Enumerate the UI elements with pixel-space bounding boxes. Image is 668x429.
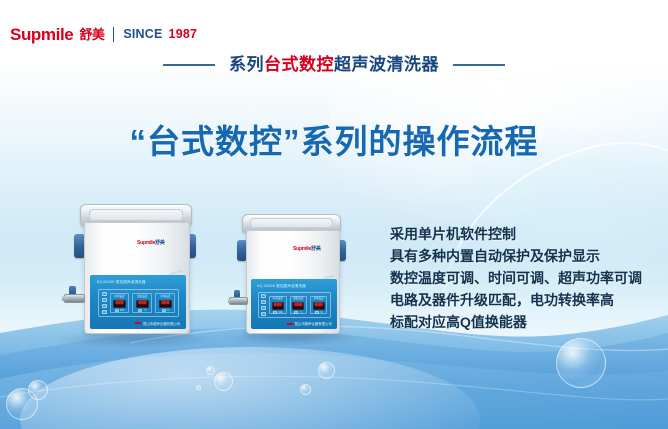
- bubble-center-small: [300, 384, 311, 395]
- page-title: “台式数控”系列的操作流程: [0, 122, 668, 162]
- machine-right-module-time-caption: 时间设定: [273, 296, 283, 300]
- machine-right-brand-en: Supmile: [293, 246, 311, 252]
- machine-right-module-power[interactable]: 功率设定 000 %: [310, 296, 327, 315]
- feature-item: 具有多种内置自动保护及保护显示: [390, 247, 642, 265]
- machine-right-panel-footer-mark: [287, 323, 293, 325]
- logo-since-year: 1987: [169, 28, 198, 41]
- machine-right-module-temp-unit: °C: [300, 311, 303, 314]
- machine-right-led-temp-value: 000: [294, 303, 302, 308]
- machine-right-body: Supmile舒美 KQ-300DE 数控超声波清洗器 时间: [246, 230, 340, 334]
- machine-left-brand-cn: 舒美: [155, 240, 165, 246]
- bubble-large-right: [556, 338, 606, 388]
- machine-left-module-temp-unit: °C: [144, 309, 147, 312]
- machine-left-module-temp-controls[interactable]: °C: [138, 309, 146, 312]
- machine-right-panel-group: 时间设定 000 MIN 温度设定 000 °C 功率设定 000 %: [258, 292, 331, 318]
- machine-left-module-power[interactable]: 功率设定 000 %: [155, 293, 175, 313]
- machine-left-led-time: 000: [113, 300, 125, 308]
- machine-left-led-temp: 000: [136, 300, 148, 308]
- machine-left-time-btn-icon[interactable]: [115, 309, 119, 312]
- machine-right-led-power: 000: [313, 302, 325, 310]
- machine-left-panel-group: 时间设定 000 MIN 温度设定 000 °C 功率设定 000 %: [98, 289, 180, 317]
- bubble-left-small: [28, 380, 48, 400]
- bubble-mid-a: [214, 372, 233, 391]
- feature-list: 采用单片机软件控制 具有多种内置自动保护及保护显示 数控温度可调、时间可调、超声…: [390, 225, 642, 331]
- machine-left-key-3[interactable]: [102, 304, 107, 308]
- machine-left-module-temp-caption: 温度设定: [137, 294, 147, 298]
- machine-right-module-temp-controls[interactable]: °C: [294, 311, 302, 314]
- machine-left-module-temp[interactable]: 温度设定 000 °C: [132, 293, 152, 313]
- header-title-highlight: 台式数控: [264, 55, 334, 74]
- machine-right-lid-inset: [250, 218, 333, 228]
- machine-left-panel-footer: 昆山市超声仪器有限公司: [135, 321, 180, 326]
- machine-right-panel-footer: 昆山市超声仪器有限公司: [287, 321, 332, 326]
- machine-right-keypad[interactable]: [261, 294, 266, 316]
- machine-left-module-power-controls[interactable]: %: [162, 309, 170, 312]
- machine-right-valve-spout: [228, 299, 233, 303]
- machine-right-key-2[interactable]: [261, 300, 266, 304]
- machine-right-module-power-unit: %: [320, 311, 322, 314]
- machine-left-lid-inset: [89, 209, 184, 221]
- feature-item: 数控温度可调、时间可调、超声功率可调: [390, 269, 642, 287]
- machine-left-module-time-caption: 时间设定: [114, 294, 124, 298]
- logo-divider: [113, 27, 114, 42]
- machine-right-led-time-value: 000: [274, 303, 282, 308]
- machine-right-key-4[interactable]: [261, 312, 266, 316]
- machine-left-keypad[interactable]: [102, 292, 107, 314]
- machine-left-led-temp-value: 000: [138, 301, 146, 306]
- machine-right-module-temp[interactable]: 温度设定 000 °C: [290, 296, 307, 315]
- feature-item: 采用单片机软件控制: [390, 225, 642, 243]
- machine-right-temp-btn-icon[interactable]: [294, 311, 298, 314]
- machine-right-led-time: 000: [272, 302, 284, 310]
- header-rule-right: [453, 64, 505, 66]
- machine-left-led-power: 000: [159, 300, 171, 308]
- machine-right-modules: 时间设定 000 MIN 温度设定 000 °C 功率设定 000 %: [269, 296, 327, 315]
- machine-left-modules: 时间设定 000 MIN 温度设定 000 °C 功率设定 000 %: [110, 293, 176, 313]
- machine-left-power-btn-icon[interactable]: [162, 309, 166, 312]
- bubble-center: [318, 362, 335, 379]
- logo-since-label: SINCE: [123, 28, 162, 41]
- logo-text-en: Supmile: [10, 26, 73, 43]
- machine-left-panel-footer-mark: [135, 322, 141, 324]
- header-band: 系列台式数控超声波清洗器: [0, 56, 668, 73]
- header-rule-left: [163, 64, 215, 66]
- bubble-left-big: [6, 388, 38, 420]
- machine-right-control-panel[interactable]: KQ-300DE 数控超声波清洗器 时间设定 000 MIN: [251, 279, 337, 329]
- machine-left-brand: Supmile舒美: [137, 239, 165, 246]
- slide-canvas: Supmile 舒美 SINCE 1987 系列台式数控超声波清洗器 “台式数控…: [0, 0, 668, 429]
- machine-right-module-temp-caption: 温度设定: [293, 296, 303, 300]
- machine-left-led-power-value: 000: [161, 301, 169, 306]
- machine-right-key-1[interactable]: [261, 294, 266, 298]
- machine-right-panel-model: KQ-300DE 数控超声波清洗器: [257, 284, 306, 289]
- bubble-mid-b: [206, 366, 215, 375]
- machine-right-led-temp: 000: [292, 302, 304, 310]
- header-title-suffix: 超声波清洗器: [334, 55, 439, 74]
- machine-left-key-1[interactable]: [102, 292, 107, 296]
- machine-left-valve-spout: [62, 296, 68, 301]
- machine-right: Supmile舒美 KQ-300DE 数控超声波清洗器 时间: [228, 214, 356, 340]
- machine-left-key-4[interactable]: [102, 310, 107, 314]
- machine-right-key-3[interactable]: [261, 306, 266, 310]
- background-glow-top: [330, 0, 668, 240]
- machine-left-module-time-unit: MIN: [120, 309, 124, 312]
- machine-left-panel-footer-text: 昆山市超声仪器有限公司: [143, 321, 180, 326]
- feature-item: 标配对应高Q值换能器: [390, 313, 642, 331]
- machine-left: Supmile舒美 KQ-500DE 数控超声波清洗器 时间: [62, 204, 210, 340]
- machine-right-time-btn-icon[interactable]: [273, 311, 277, 314]
- machine-left-control-panel[interactable]: KQ-500DE 数控超声波清洗器 时间设定 000 MIN: [90, 275, 186, 329]
- machine-left-led-time-value: 000: [115, 301, 123, 306]
- machine-left-module-time[interactable]: 时间设定 000 MIN: [110, 293, 130, 313]
- machine-left-key-2[interactable]: [102, 298, 107, 302]
- machine-right-module-time[interactable]: 时间设定 000 MIN: [269, 296, 286, 315]
- machine-left-module-power-unit: %: [167, 309, 169, 312]
- bubble-mid-c: [196, 385, 201, 390]
- machine-right-power-btn-icon[interactable]: [315, 311, 319, 314]
- logo-text-cn: 舒美: [79, 28, 104, 41]
- machine-right-module-time-controls[interactable]: MIN: [273, 311, 283, 314]
- machine-right-brand: Supmile舒美: [293, 245, 321, 252]
- machine-right-module-power-caption: 功率设定: [313, 296, 323, 300]
- machine-left-brand-en: Supmile: [137, 240, 155, 246]
- machine-right-module-power-controls[interactable]: %: [315, 311, 323, 314]
- machine-right-brand-cn: 舒美: [311, 246, 321, 252]
- machine-right-panel-footer-text: 昆山市超声仪器有限公司: [295, 321, 332, 326]
- machine-right-led-power-value: 000: [315, 303, 323, 308]
- machine-left-panel-model: KQ-500DE 数控超声波清洗器: [97, 280, 146, 285]
- machine-left-module-time-controls[interactable]: MIN: [115, 309, 125, 312]
- brand-logo: Supmile 舒美 SINCE 1987: [10, 26, 197, 43]
- machine-left-module-power-caption: 功率设定: [160, 294, 170, 298]
- header-title: 系列台式数控超声波清洗器: [229, 56, 439, 73]
- machine-left-body: Supmile舒美 KQ-500DE 数控超声波清洗器 时间: [84, 222, 190, 334]
- header-title-prefix: 系列: [229, 55, 264, 74]
- machine-right-module-time-unit: MIN: [278, 311, 282, 314]
- feature-item: 电路及器件升级匹配，电功转换率高: [390, 291, 642, 309]
- machine-left-temp-btn-icon[interactable]: [138, 309, 142, 312]
